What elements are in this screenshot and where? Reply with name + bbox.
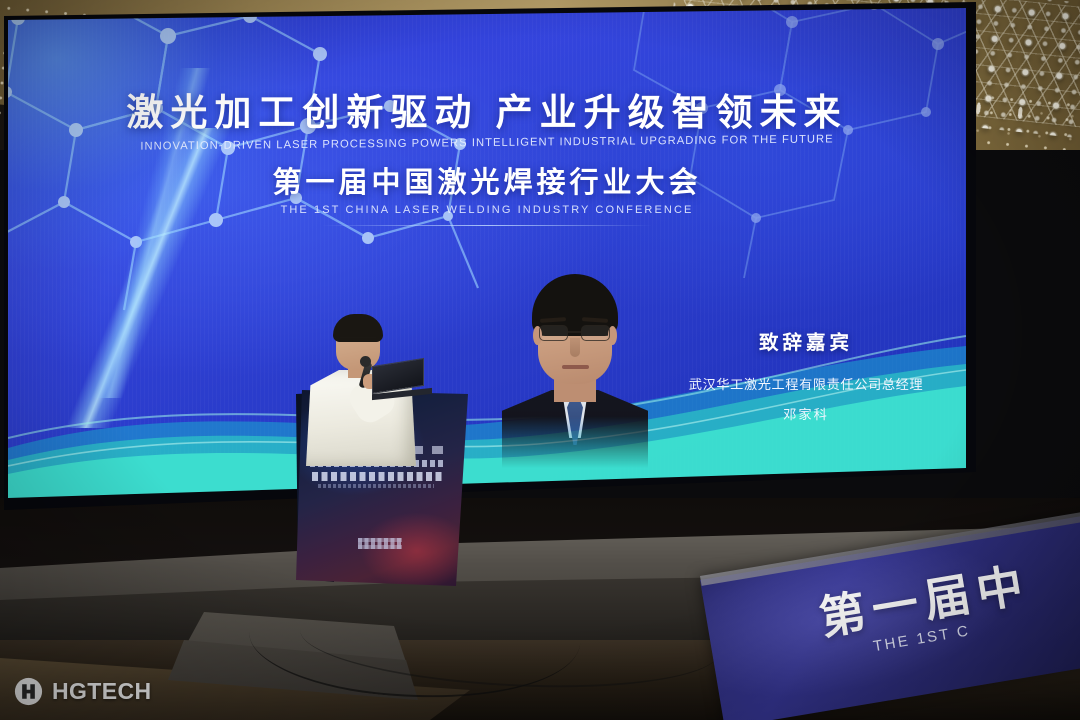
speaker-role-label: 致辞嘉宾 (656, 326, 956, 355)
subtitle-chinese: 第一届中国激光焊接行业大会 (8, 159, 966, 201)
presenter-person (300, 318, 430, 488)
hgtech-logo-icon (14, 677, 43, 706)
portrait-mouth (562, 365, 589, 369)
portrait-glasses-left (539, 325, 568, 341)
speaker-portrait (494, 270, 656, 468)
hgtech-brand-text: HGTECH (52, 678, 152, 705)
subtitle-english: THE 1ST CHINA LASER WELDING INDUSTRY CON… (8, 204, 966, 216)
screen-title-block: 激光加工创新驱动 产业升级智领未来 INNOVATION-DRIVEN LASE… (8, 94, 966, 226)
speaker-organization: 武汉华工激光工程有限责任公司总经理 (656, 374, 956, 393)
headline-english: INNOVATION-DRIVEN LASER PROCESSING POWER… (8, 132, 966, 154)
speaker-name: 邓家科 (656, 404, 956, 423)
headline-chinese: 激光加工创新驱动 产业升级智领未来 (8, 94, 966, 133)
microphone-head (360, 356, 371, 367)
portrait-glasses-bridge (568, 331, 581, 333)
laptop (372, 362, 432, 397)
podium-footer-text (358, 538, 402, 549)
portrait-glasses-right (581, 325, 610, 341)
speaker-info-panel: 致辞嘉宾 武汉华工激光工程有限责任公司总经理 邓家科 (656, 326, 956, 423)
hgtech-watermark: HGTECH (14, 677, 152, 706)
conference-stage-photo: 激光加工创新驱动 产业升级智领未来 INNOVATION-DRIVEN LASE… (0, 0, 1080, 720)
title-divider (322, 225, 652, 226)
presenter-glasses (340, 337, 376, 346)
led-screen: 激光加工创新驱动 产业升级智领未来 INNOVATION-DRIVEN LASE… (8, 8, 966, 498)
portrait-nose (570, 338, 580, 357)
